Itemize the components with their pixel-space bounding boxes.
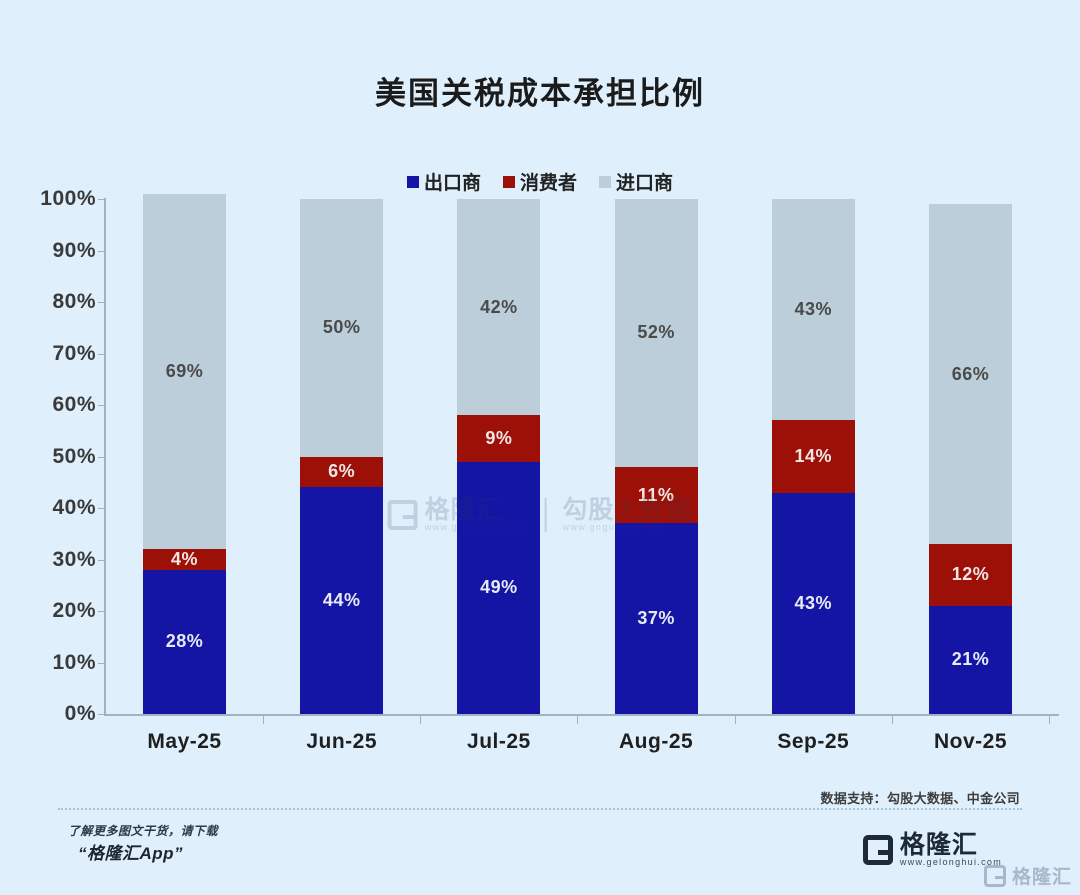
y-tick-mark [98, 457, 105, 458]
chart-canvas: 美国关税成本承担比例 出口商消费者进口商 0%10%20%30%40%50%60… [0, 0, 1080, 895]
app-promo: 了解更多图文干货，请下载 “格隆汇App” [68, 822, 218, 867]
y-tick-label: 0% [65, 702, 96, 726]
legend-label: 进口商 [616, 168, 673, 195]
x-tick-mark [577, 716, 578, 724]
bar-stack[interactable]: 44%6%50% [300, 199, 383, 714]
x-tick-mark [1049, 716, 1050, 724]
bar-segment[interactable]: 4% [143, 549, 226, 570]
legend-label: 出口商 [424, 168, 481, 195]
y-tick-label: 50% [52, 445, 96, 469]
y-axis-tick-labels: 0%10%20%30%40%50%60%70%80%90%100% [24, 190, 96, 720]
bar-value-label: 43% [795, 593, 833, 614]
bar-value-label: 21% [952, 649, 990, 670]
bar-value-label: 28% [166, 631, 204, 652]
x-tick-mark [420, 716, 421, 724]
y-tick-label: 100% [40, 187, 96, 211]
y-tick-mark [98, 302, 105, 303]
y-tick-mark [98, 251, 105, 252]
legend-label: 消费者 [520, 168, 577, 195]
bar-segment[interactable]: 44% [300, 487, 383, 714]
brand-name: 格隆汇 [900, 832, 1002, 858]
y-tick-label: 90% [52, 239, 96, 263]
bar-stack[interactable]: 21%12%66% [929, 199, 1012, 714]
bar-segment[interactable]: 12% [929, 544, 1012, 606]
corner-watermark-name: 格隆汇 [1012, 862, 1072, 889]
bar-value-label: 14% [795, 446, 833, 467]
bar-stack[interactable]: 37%11%52% [615, 199, 698, 714]
y-tick-mark [98, 663, 105, 664]
y-tick-label: 10% [52, 651, 96, 675]
bar-value-label: 50% [323, 317, 361, 338]
bar-value-label: 49% [480, 577, 518, 598]
bar-value-label: 6% [328, 461, 355, 482]
footer-divider [58, 808, 1022, 810]
brand-url: www.gelonghui.com [900, 858, 1002, 867]
bar-segment[interactable]: 52% [615, 199, 698, 467]
x-tick-label: Nov-25 [929, 730, 1012, 754]
bar-stack[interactable]: 49%9%42% [457, 199, 540, 714]
bar-value-label: 11% [638, 485, 675, 506]
bar-segment[interactable]: 49% [457, 462, 540, 714]
bar-value-label: 52% [637, 322, 675, 343]
bar-segment[interactable]: 28% [143, 570, 226, 714]
bar-value-label: 42% [480, 297, 518, 318]
chart-legend: 出口商消费者进口商 [0, 168, 1080, 195]
bar-segment[interactable]: 21% [929, 606, 1012, 714]
y-tick-mark [98, 560, 105, 561]
x-tick-label: Aug-25 [615, 730, 698, 754]
bar-value-label: 9% [485, 428, 512, 449]
bar-value-label: 4% [171, 549, 198, 570]
bar-segment[interactable]: 37% [615, 523, 698, 714]
watermark-divider [544, 498, 546, 532]
x-tick-mark [892, 716, 893, 724]
bar-value-label: 43% [795, 299, 833, 320]
x-tick-mark [735, 716, 736, 724]
gelonghui-logo-icon [863, 835, 893, 865]
promo-line-2: “格隆汇App” [68, 841, 218, 867]
bar-value-label: 12% [952, 564, 990, 585]
bar-value-label: 66% [952, 364, 990, 385]
promo-line-1: 了解更多图文干货，请下载 [68, 822, 218, 841]
y-tick-mark [98, 405, 105, 406]
x-tick-label: Sep-25 [772, 730, 855, 754]
bar-segment[interactable]: 50% [300, 199, 383, 457]
y-tick-label: 20% [52, 599, 96, 623]
gelonghui-logo-icon [388, 500, 418, 530]
y-tick-mark [98, 199, 105, 200]
bar-segment[interactable]: 11% [615, 467, 698, 524]
y-tick-mark [98, 354, 105, 355]
legend-item-3[interactable]: 进口商 [599, 168, 673, 195]
gelonghui-logo-icon [984, 865, 1006, 887]
y-tick-label: 30% [52, 548, 96, 572]
bar-segment[interactable]: 66% [929, 204, 1012, 544]
y-tick-mark [98, 508, 105, 509]
y-tick-mark [98, 714, 105, 715]
bar-stack[interactable]: 43%14%43% [772, 199, 855, 714]
y-tick-label: 60% [52, 393, 96, 417]
brand-logo: 格隆汇 www.gelonghui.com [863, 832, 1002, 868]
x-tick-label: May-25 [143, 730, 226, 754]
bar-segment[interactable]: 69% [143, 194, 226, 549]
page-title: 美国关税成本承担比例 [0, 68, 1080, 113]
legend-swatch-icon [503, 176, 515, 188]
legend-swatch-icon [599, 176, 611, 188]
y-tick-label: 80% [52, 290, 96, 314]
bars-layer: 28%4%69%44%6%50%49%9%42%37%11%52%43%14%4… [0, 0, 1080, 895]
bar-value-label: 69% [166, 361, 204, 382]
x-tick-mark [263, 716, 264, 724]
source-note: 数据支持：勾股大数据、中金公司 [820, 788, 1020, 807]
x-axis-line [104, 714, 1059, 716]
bar-segment[interactable]: 14% [772, 420, 855, 492]
legend-swatch-icon [407, 176, 419, 188]
bar-segment[interactable]: 42% [457, 199, 540, 415]
bar-stack[interactable]: 28%4%69% [143, 199, 226, 714]
bar-value-label: 44% [323, 590, 361, 611]
bar-segment[interactable]: 6% [300, 457, 383, 488]
bar-segment[interactable]: 9% [457, 415, 540, 461]
legend-item-2[interactable]: 消费者 [503, 168, 577, 195]
x-tick-label: Jun-25 [300, 730, 383, 754]
y-tick-mark [98, 611, 105, 612]
bar-segment[interactable]: 43% [772, 199, 855, 420]
y-tick-label: 40% [52, 496, 96, 520]
y-tick-label: 70% [52, 342, 96, 366]
bar-value-label: 37% [637, 608, 675, 629]
x-tick-label: Jul-25 [457, 730, 540, 754]
legend-item-1[interactable]: 出口商 [407, 168, 481, 195]
bar-segment[interactable]: 43% [772, 493, 855, 714]
